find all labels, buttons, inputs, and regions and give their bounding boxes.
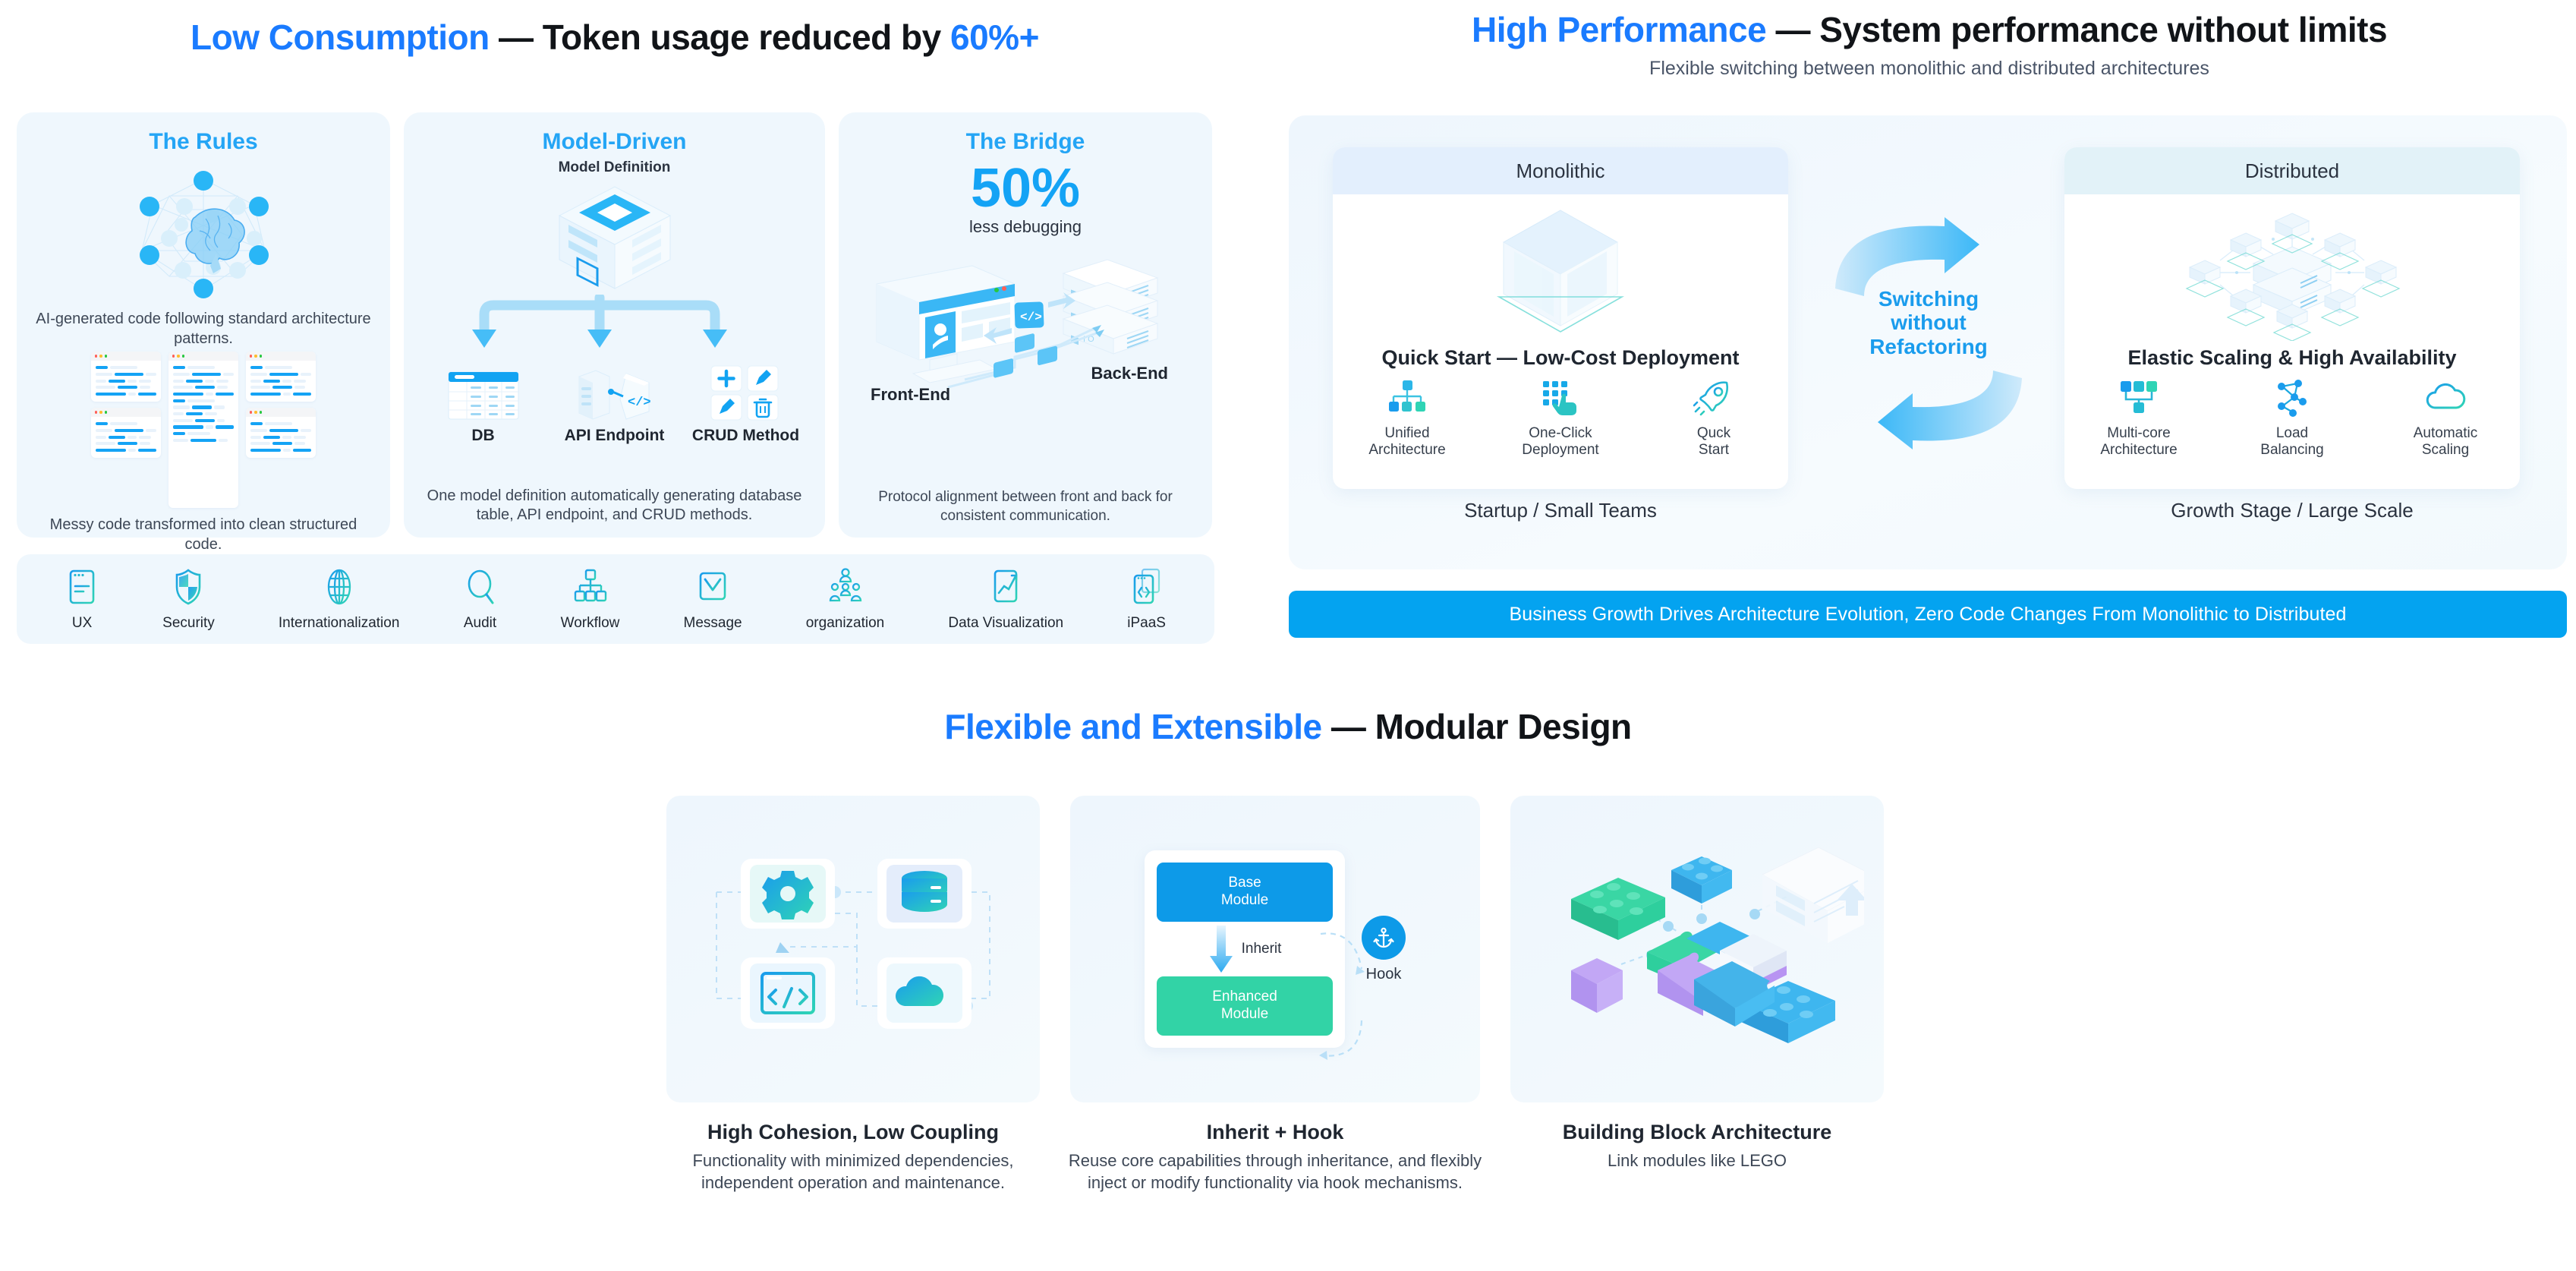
- growth-banner: Business Growth Drives Architecture Evol…: [1289, 591, 2567, 638]
- snippet-column-center: [168, 352, 238, 508]
- right-panel-subtitle: Flexible switching between monolithic an…: [1283, 58, 2576, 80]
- model-output-crud-label: CRUD Method: [692, 427, 799, 445]
- card-the-rules-caption-top: AI-generated code following standard arc…: [30, 310, 376, 348]
- card-the-bridge: The Bridge 50% less debugging: [839, 112, 1212, 538]
- hook-connection-arrows: [1318, 907, 1383, 1096]
- globe-icon: [323, 567, 356, 610]
- model-output-api: </> API Endpoint: [554, 355, 675, 445]
- switching-arrows: Switching without Refactoring: [1826, 214, 2031, 457]
- base-module-block: Base Module: [1157, 863, 1333, 922]
- model-definition-label: Model Definition: [559, 159, 671, 176]
- svg-text:</>: </>: [1020, 311, 1042, 324]
- card-model-driven-caption: One model definition automatically gener…: [417, 487, 811, 525]
- left-title-metric: 60%+: [950, 17, 1039, 57]
- database-table-icon: [447, 355, 520, 421]
- card-inherit-hook: Base Module Inherit: [1063, 796, 1488, 1194]
- monolithic-card: Monolithic: [1333, 147, 1788, 489]
- distributed-network-icon: [2167, 202, 2417, 343]
- feature-load-balancing[interactable]: LoadBalancing: [2235, 379, 2349, 459]
- bottom-section-title: Flexible and Extensible — Modular Design: [0, 706, 2576, 747]
- switching-label: Switching without Refactoring: [1826, 287, 2031, 358]
- code-window-mock: [246, 408, 316, 458]
- feature-security[interactable]: Security: [162, 567, 215, 632]
- feature-automatic-scaling-label: AutomaticScaling: [2414, 425, 2477, 459]
- code-window-mock: [91, 352, 161, 402]
- chart-trend-icon: [989, 567, 1022, 610]
- feature-message[interactable]: Message: [684, 567, 742, 632]
- card-the-rules: The Rules: [17, 112, 390, 538]
- distributed-footer: Growth Stage / Large Scale: [2064, 499, 2520, 522]
- code-lines: [246, 361, 316, 402]
- unified-architecture-icon: [1387, 379, 1428, 421]
- feature-workflow[interactable]: Workflow: [561, 567, 620, 632]
- feature-quick-start[interactable]: QuckStart: [1657, 379, 1771, 459]
- browser-window-icon: [65, 567, 99, 610]
- monolith-cube-icon: [1481, 202, 1640, 343]
- inherit-hook-art: Base Module Inherit: [1070, 796, 1480, 1102]
- inherit-arrow-icon: [1208, 924, 1234, 974]
- magnifier-icon: [464, 567, 497, 610]
- feature-icon-strip: UX Security: [17, 554, 1214, 644]
- window-titlebar: [91, 408, 161, 417]
- card-building-block-title: Building Block Architecture: [1563, 1121, 1832, 1144]
- left-title-highlight: Low Consumption: [191, 17, 490, 57]
- code-snippet-mocks: [91, 352, 316, 508]
- model-cube-icon: [550, 181, 679, 295]
- feature-message-label: Message: [684, 615, 742, 632]
- bottom-title-highlight: Flexible and Extensible: [944, 707, 1321, 746]
- distributed-card-body: Elastic Scaling & High Availability: [2064, 194, 2520, 459]
- infographic-page: Low Consumption — Token usage reduced by…: [0, 0, 2576, 1271]
- right-title-highlight: High Performance: [1472, 10, 1766, 49]
- feature-organization[interactable]: organization: [806, 567, 885, 632]
- feature-internationalization-label: Internationalization: [279, 615, 400, 632]
- envelope-check-icon: [696, 567, 729, 610]
- feature-multi-core-label: Multi-coreArchitecture: [2100, 425, 2177, 459]
- monolithic-headline: Quick Start — Low-Cost Deployment: [1381, 346, 1739, 370]
- feature-quick-start-label: QuckStart: [1697, 425, 1730, 459]
- low-consumption-panel: Low Consumption — Token usage reduced by…: [0, 0, 1230, 668]
- model-outputs: DB </>: [417, 355, 811, 445]
- card-high-cohesion-desc: Functionality with minimized dependencie…: [675, 1150, 1031, 1194]
- feature-ipaas-label: iPaaS: [1127, 615, 1166, 632]
- window-titlebar: [246, 408, 316, 417]
- feature-ipaas[interactable]: iPaaS: [1127, 567, 1166, 632]
- monolithic-footer: Startup / Small Teams: [1333, 499, 1788, 522]
- feature-organization-label: organization: [806, 615, 885, 632]
- feature-one-click-deployment[interactable]: One-ClickDeployment: [1504, 379, 1617, 459]
- feature-audit[interactable]: Audit: [464, 567, 497, 632]
- model-output-db: DB: [423, 355, 544, 445]
- neural-brain-icon: [116, 170, 291, 299]
- module-grid-art: [666, 796, 1040, 1102]
- monolithic-features: UnifiedArchitecture: [1350, 379, 1771, 459]
- model-output-db-label: DB: [471, 427, 494, 445]
- left-title-rest: — Token usage reduced by: [490, 17, 950, 57]
- right-panel-header: High Performance — System performance wi…: [1283, 9, 2576, 80]
- card-high-cohesion: High Cohesion, Low Coupling Functionalit…: [666, 796, 1040, 1194]
- window-titlebar: [246, 352, 316, 361]
- distributed-headline: Elastic Scaling & High Availability: [2127, 346, 2456, 370]
- lego-blocks-art: [1510, 796, 1884, 1102]
- modular-design-section: Flexible and Extensible — Modular Design: [0, 706, 2576, 1271]
- card-building-block-desc: Link modules like LEGO: [1519, 1150, 1875, 1172]
- snippet-column-left: [91, 352, 161, 458]
- rocket-icon: [1693, 379, 1734, 421]
- code-lines: [168, 361, 238, 448]
- feature-unified-architecture-label: UnifiedArchitecture: [1368, 425, 1445, 459]
- card-high-cohesion-title: High Cohesion, Low Coupling: [707, 1121, 999, 1144]
- branch-arrows: [417, 295, 811, 355]
- code-device-icon: [1130, 567, 1164, 610]
- api-server-code-icon: </>: [573, 355, 657, 421]
- shield-icon: [172, 567, 205, 610]
- cloud-icon: [2425, 379, 2466, 421]
- multi-core-icon: [2118, 379, 2159, 421]
- debug-reduction-sub: less debugging: [969, 217, 1082, 237]
- feature-internationalization[interactable]: Internationalization: [279, 567, 400, 632]
- code-window-mock: [246, 352, 316, 402]
- feature-audit-label: Audit: [464, 615, 496, 632]
- window-titlebar: [91, 352, 161, 361]
- bottom-title-rest: — Modular Design: [1322, 707, 1632, 746]
- window-titlebar: [168, 352, 238, 361]
- monolithic-card-body: Quick Start — Low-Cost Deployment: [1333, 194, 1788, 459]
- monolithic-card-header: Monolithic: [1333, 147, 1788, 194]
- back-end-label: Back-End: [1091, 364, 1168, 383]
- card-inherit-hook-title: Inherit + Hook: [1207, 1121, 1344, 1144]
- high-performance-panel: High Performance — System performance wi…: [1283, 0, 2576, 668]
- code-window-mock: [91, 408, 161, 458]
- distributed-card-header: Distributed: [2064, 147, 2520, 194]
- crud-actions-icon: [710, 355, 783, 421]
- frontend-backend-art: I O I O: [866, 238, 1185, 402]
- inherit-label: Inherit: [1242, 941, 1282, 957]
- code-lines: [246, 417, 316, 458]
- feature-ux-label: UX: [72, 615, 92, 632]
- people-group-icon: [829, 567, 862, 610]
- snippet-column-right: [246, 352, 316, 458]
- card-the-bridge-title: The Bridge: [966, 129, 1085, 155]
- enhanced-module-block: Enhanced Module: [1157, 976, 1333, 1036]
- card-building-block: Building Block Architecture Link modules…: [1510, 796, 1884, 1194]
- card-the-rules-caption-bottom: Messy code transformed into clean struct…: [30, 516, 376, 554]
- module-box: Base Module Inherit: [1145, 850, 1345, 1048]
- left-panel-title: Low Consumption — Token usage reduced by…: [0, 17, 1230, 58]
- code-window-mock: [168, 352, 238, 508]
- right-title-rest: — System performance without limits: [1766, 10, 2387, 49]
- one-click-deploy-icon: [1540, 379, 1581, 421]
- feature-ux[interactable]: UX: [65, 567, 99, 632]
- feature-data-visualization-label: Data Visualization: [948, 615, 1063, 632]
- debug-reduction-percent: 50%: [971, 161, 1080, 216]
- feature-security-label: Security: [162, 615, 215, 632]
- card-model-driven-title: Model-Driven: [542, 129, 686, 155]
- feature-unified-architecture[interactable]: UnifiedArchitecture: [1350, 379, 1464, 459]
- card-the-rules-title: The Rules: [149, 129, 257, 155]
- card-model-driven: Model-Driven Model Definition: [404, 112, 825, 538]
- org-tree-icon: [574, 567, 607, 610]
- feature-workflow-label: Workflow: [561, 615, 620, 632]
- feature-load-balancing-label: LoadBalancing: [2260, 425, 2323, 459]
- left-cards-row: The Rules: [17, 112, 1212, 538]
- load-balancing-icon: [2272, 379, 2313, 421]
- feature-multi-core[interactable]: Multi-coreArchitecture: [2082, 379, 2196, 459]
- distributed-features: Multi-coreArchitecture: [2082, 379, 2502, 459]
- architecture-comparison-box: Monolithic: [1289, 115, 2567, 569]
- code-lines: [91, 361, 161, 402]
- model-output-api-label: API Endpoint: [565, 427, 665, 445]
- distributed-card: Distributed: [2064, 147, 2520, 489]
- card-inherit-hook-desc: Reuse core capabilities through inherita…: [1063, 1150, 1488, 1194]
- feature-data-visualization[interactable]: Data Visualization: [948, 567, 1063, 632]
- modular-cards-row: High Cohesion, Low Coupling Functionalit…: [666, 796, 1884, 1194]
- feature-one-click-deployment-label: One-ClickDeployment: [1522, 425, 1598, 459]
- svg-text:</>: </>: [628, 396, 651, 410]
- front-end-label: Front-End: [871, 385, 950, 405]
- code-lines: [91, 417, 161, 458]
- right-panel-title: High Performance — System performance wi…: [1283, 9, 2576, 50]
- feature-automatic-scaling[interactable]: AutomaticScaling: [2389, 379, 2502, 459]
- card-the-bridge-caption: Protocol alignment between front and bac…: [852, 488, 1198, 525]
- model-output-crud: CRUD Method: [685, 355, 807, 445]
